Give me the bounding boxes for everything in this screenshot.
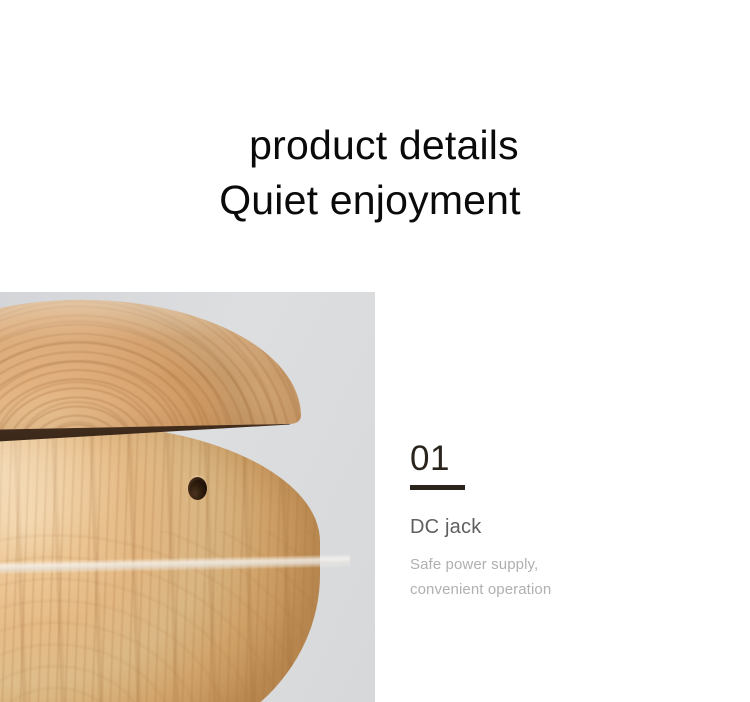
feature-description-line-2: convenient operation (410, 577, 710, 602)
feature-number: 01 (410, 440, 710, 478)
feature-title: DC jack (410, 515, 710, 539)
feature-info-block: 01 DC jack Safe power supply, convenient… (410, 440, 710, 602)
lid-highlight (0, 296, 301, 433)
page-title-primary: product details (18, 118, 750, 172)
feature-description-line-1: Safe power supply, (410, 552, 710, 577)
page-heading: product details Quiet enjoyment (0, 118, 750, 228)
diffuser-lid (0, 296, 301, 433)
page-title-secondary: Quiet enjoyment (0, 172, 750, 228)
dc-jack-port-icon (188, 477, 207, 500)
feature-divider (410, 485, 465, 490)
feature-description: Safe power supply, convenient operation (410, 552, 710, 602)
product-detail-page: product details Quiet enjoyment 01 DC ja… (0, 0, 750, 702)
product-photo (0, 292, 375, 702)
